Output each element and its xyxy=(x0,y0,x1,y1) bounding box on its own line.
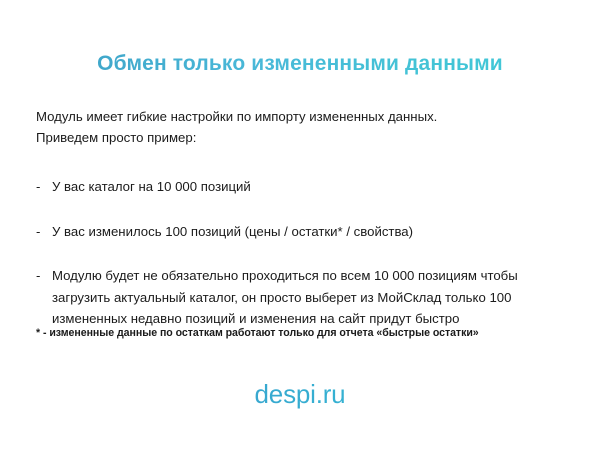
list-item-label: У вас изменилось 100 позиций (цены / ост… xyxy=(52,224,413,239)
bullet-marker-icon: - xyxy=(36,221,40,243)
intro-paragraph: Модуль имеет гибкие настройки по импорту… xyxy=(36,106,546,148)
page-title: Обмен только измененными данными xyxy=(0,52,600,76)
bullet-marker-icon: - xyxy=(36,265,40,287)
list-item-label: Модулю будет не обязательно проходиться … xyxy=(52,268,518,326)
bullet-list: - У вас каталог на 10 000 позиций - У ва… xyxy=(36,176,546,330)
presentation-slide: Обмен только измененными данными Модуль … xyxy=(0,0,600,450)
bullet-marker-icon: - xyxy=(36,176,40,198)
list-item: - Модулю будет не обязательно проходитьс… xyxy=(36,265,546,330)
slide-body: Модуль имеет гибкие настройки по импорту… xyxy=(36,106,546,330)
intro-line-1: Модуль имеет гибкие настройки по импорту… xyxy=(36,106,546,127)
brand-logo: despi.ru xyxy=(0,379,600,410)
list-item-label: У вас каталог на 10 000 позиций xyxy=(52,179,251,194)
list-item: - У вас каталог на 10 000 позиций xyxy=(36,176,546,198)
footnote: * - измененные данные по остаткам работа… xyxy=(36,327,479,339)
intro-line-2: Приведем просто пример: xyxy=(36,127,546,148)
list-item: - У вас изменилось 100 позиций (цены / о… xyxy=(36,221,546,243)
